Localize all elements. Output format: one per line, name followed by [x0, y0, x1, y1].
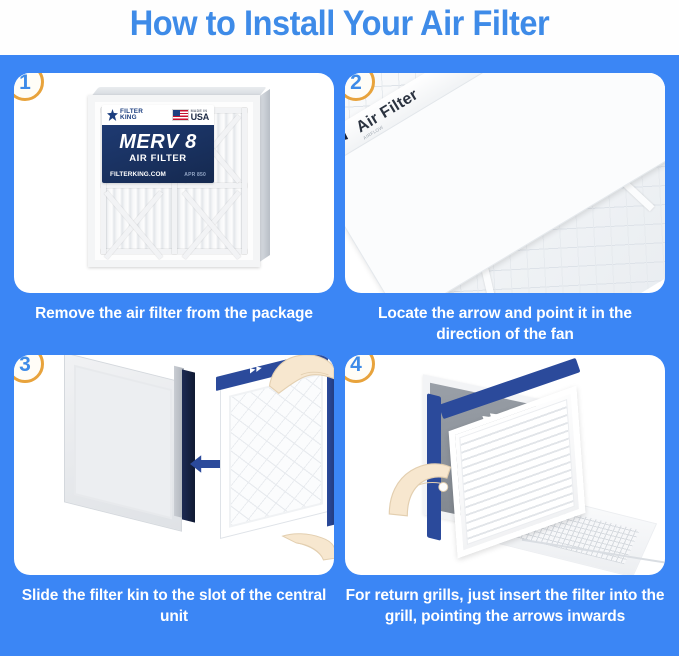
insert-direction-arrow-icon — [190, 453, 222, 475]
step-3-illustration: ▶▶ — [14, 355, 334, 575]
filter-wire-right — [242, 108, 247, 254]
label-main-panel: MERV 8 AIR FILTER FILTERKING.COM APR 850 — [102, 125, 214, 183]
airflow-arrow-icon — [345, 128, 354, 151]
us-flag-icon — [172, 109, 189, 121]
page-title: How to Install Your Air Filter — [24, 0, 655, 50]
infographic-root: How to Install Your Air Filter 1 — [0, 0, 679, 656]
apr-code-label: APR 850 — [184, 172, 206, 178]
merv-rating: MERV 8 — [110, 132, 206, 152]
step-4-image-card: 4 ▶▶ — [345, 355, 665, 575]
step-3-caption: Slide the filter kin to the slot of the … — [14, 585, 334, 627]
step-2-illustration: Air Filter AIRFLOW — [345, 73, 665, 293]
filter-corner-closeup: Air Filter AIRFLOW — [345, 73, 665, 293]
slot-edge-dark — [182, 369, 195, 522]
step-1-image-card: 1 — [14, 73, 334, 293]
step-card-3: 3 — [14, 355, 334, 627]
filter-king-logo: FILTER KING — [107, 109, 143, 122]
label-footer-row: FILTERKING.COM APR 850 — [110, 171, 206, 178]
step-1-caption: Remove the air filter from the package — [14, 303, 334, 324]
country-label: USA — [191, 113, 209, 122]
slot-recess — [74, 365, 172, 519]
hand-holding-filter-icon — [387, 451, 469, 523]
step-4-caption: For return grills, just insert the filte… — [345, 585, 665, 627]
brand-wordmark: FILTER KING — [120, 109, 143, 122]
brand-line-2: KING — [120, 115, 143, 122]
step-3-image-card: 3 — [14, 355, 334, 575]
step-1-illustration: FILTER KING MADE IN USA — [14, 73, 334, 293]
product-label: FILTER KING MADE IN USA — [102, 105, 214, 183]
step-card-4: 4 ▶▶ — [345, 355, 665, 627]
step-2-image-card: 2 Air — [345, 73, 665, 293]
step-card-1: 1 — [14, 73, 334, 324]
air-filter-product: FILTER KING MADE IN USA — [88, 95, 260, 267]
hand-upper-icon — [262, 355, 334, 397]
central-unit-slot — [64, 355, 182, 532]
steps-grid: 1 — [0, 55, 679, 656]
usa-text-block: MADE IN USA — [191, 109, 209, 122]
product-type-label: AIR FILTER — [110, 153, 206, 164]
made-in-usa-badge: MADE IN USA — [172, 109, 209, 122]
step-card-2: 2 Air — [345, 73, 665, 345]
step-2-caption: Locate the arrow and point it in the dir… — [345, 303, 665, 345]
website-label: FILTERKING.COM — [110, 171, 166, 178]
crown-icon — [107, 109, 118, 121]
step-4-illustration: ▶▶ — [345, 355, 665, 575]
hand-lower-icon — [278, 531, 334, 565]
label-header-row: FILTER KING MADE IN USA — [102, 105, 214, 125]
